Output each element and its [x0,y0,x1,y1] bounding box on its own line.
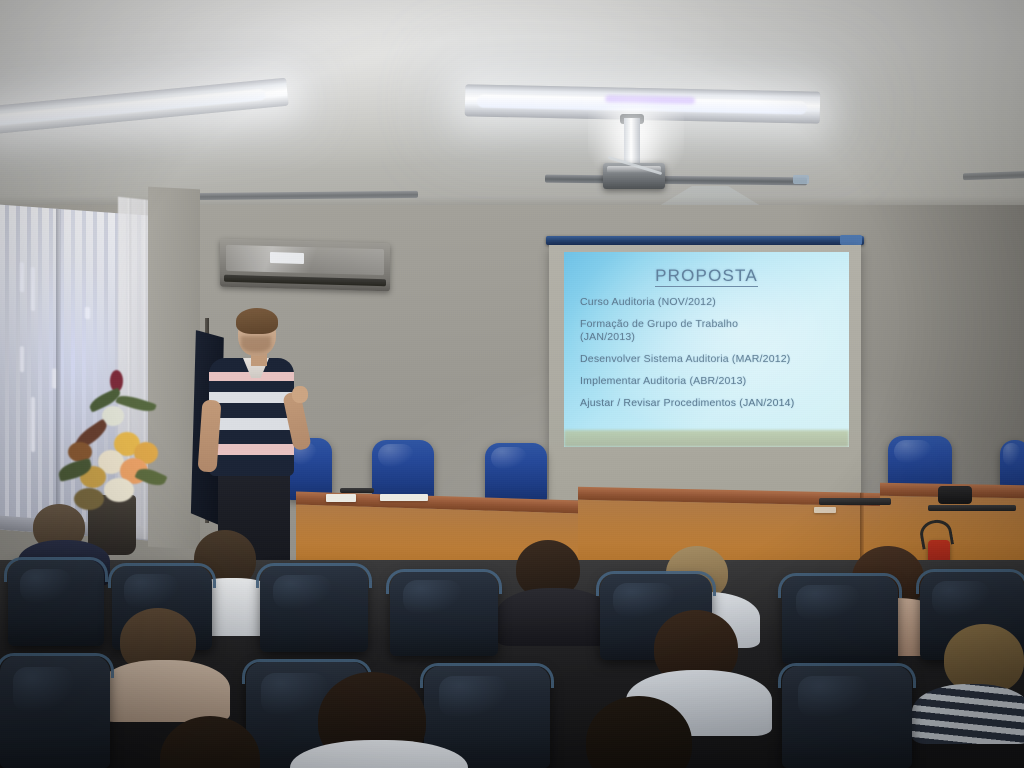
slide-bullet: Desenvolver Sistema Auditoria (MAR/2012) [580,353,839,366]
ceiling-rail-cap [793,175,809,184]
audience-seat [390,572,498,656]
papers-on-table [814,507,836,513]
ac-front-panel [226,245,384,275]
shirt-stripe-white [209,392,294,403]
audience-seat [8,560,104,646]
window-light-streak [20,346,24,372]
dark-equipment-bar [928,505,1016,511]
slide-title-text: PROPOSTA [655,266,758,287]
ac-brand-label [270,252,304,264]
presenter-hair [236,308,278,334]
projector-mount-stem [624,118,640,166]
shirt-stripe-pink [209,444,294,455]
wall-air-conditioner-icon [220,239,390,292]
seat-sheen [932,581,989,616]
audience-shoulders [98,660,230,722]
seat-sheen [798,676,870,717]
seat-sheen [403,580,462,614]
slide-bullet: Implementar Auditoria (ABR/2013) [580,375,839,388]
conference-room-photo: PROPOSTA Curso Auditoria (NOV/2012) Form… [0,0,1024,768]
slide-bullet: Formação de Grupo de Trabalho [580,318,839,331]
projected-slide: PROPOSTA Curso Auditoria (NOV/2012) Form… [564,252,849,447]
slide-bullet: Curso Auditoria (NOV/2012) [580,296,839,309]
projection-screen-housing [546,236,864,245]
dark-equipment-bar [819,498,891,505]
dark-equipment-block [938,486,972,504]
audience-shoulders [912,684,1024,744]
slide-title: PROPOSTA [564,266,849,286]
presenter-right-hand [292,386,308,403]
panel-chair [485,443,547,503]
slide-bottom-band [564,430,849,447]
shirt-stripe-white [209,418,294,430]
seat-sheen [13,667,74,712]
flower-petal [104,478,134,502]
flower-petal [74,488,104,510]
panel-chair [372,440,434,502]
window-light-streak [85,307,90,319]
seat-sheen [439,676,508,717]
audience-shoulders [496,588,612,646]
seat-sheen [20,569,73,603]
slide-bullet-list: Curso Auditoria (NOV/2012) Formação de G… [580,296,839,419]
window-light-streak [31,267,35,311]
window-light-streak [20,262,24,292]
seat-sheen [613,583,675,617]
ac-vent [224,275,386,287]
seat-sheen [124,574,179,608]
seat-sheen [273,575,332,609]
audience-seat [0,656,110,768]
window-light-streak [31,397,35,452]
presenter-beard-shadow [241,336,271,352]
dark-equipment-bar [340,488,374,493]
seat-sheen [796,585,860,620]
seat-sheen [261,673,328,715]
audience-seat [782,666,912,768]
floral-arrangement [58,370,168,515]
slide-bullet-continuation: (JAN/2013) [580,331,839,344]
projection-screen-housing-cap [840,235,862,245]
audience-seat [782,576,898,664]
audience-seat [260,566,368,652]
slide-bullet: Ajustar / Revisar Procedimentos (JAN/201… [580,397,839,410]
flower-leaf [134,465,167,490]
papers-on-table [380,494,428,501]
papers-on-table [326,494,356,502]
